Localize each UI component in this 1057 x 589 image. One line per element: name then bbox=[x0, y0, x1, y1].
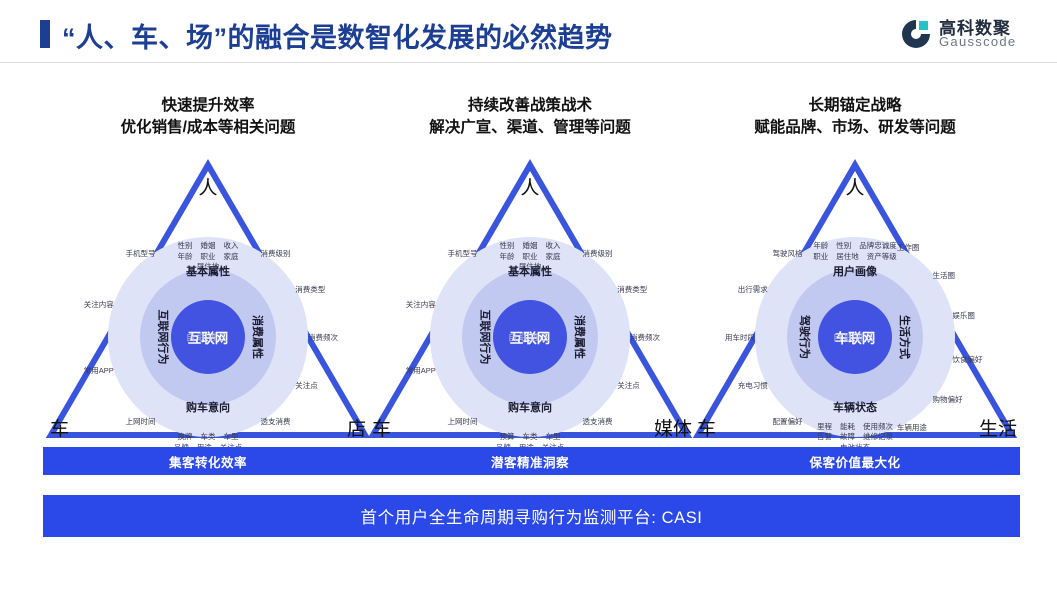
attr-tag: 饮食偏好 bbox=[952, 354, 982, 365]
concentric-diagram-3: 车联网 自联进三 用户画像 车辆状态 驾驶行为 生活方式 年龄性别品牌忠诚度职业… bbox=[755, 237, 955, 437]
pillar-column-2: 持续改善战策战术 解决广宣、渠道、管理等问题 人 车 媒体 互联网 自联进三 基… bbox=[365, 95, 695, 485]
column-1-heading: 快速提升效率 优化销售/成本等相关问题 bbox=[43, 95, 373, 139]
column-3-heading-line2: 赋能品牌、市场、研发等问题 bbox=[690, 116, 1020, 139]
outcome-bar-2: 潜客精准洞察 bbox=[365, 447, 695, 475]
attr-tag: 购物偏好 bbox=[933, 394, 963, 405]
page-title: “人、车、场”的融合是数智化发展的必然趋势 bbox=[62, 16, 613, 55]
vertex-right-3: 生活 bbox=[979, 414, 1017, 441]
header-divider bbox=[0, 62, 1057, 63]
outcome-bar-1: 集客转化效率 bbox=[43, 447, 373, 475]
attr-tag: 车辆用途 bbox=[897, 422, 927, 433]
attr-tag: 消费类型 bbox=[295, 284, 325, 295]
attr-tag: 透支消费 bbox=[260, 416, 290, 427]
vertex-top-1: 人 bbox=[198, 173, 217, 200]
attr-side-right-2: 消费级别消费类型消费频次关注点透支消费 bbox=[430, 237, 630, 437]
attr-tag: 消费级别 bbox=[260, 248, 290, 259]
attr-tag: 消费级别 bbox=[582, 248, 612, 259]
attr-tag: 关注点 bbox=[617, 380, 640, 391]
title-accent-bar bbox=[40, 20, 50, 48]
column-3-heading-line1: 长期锚定战略 bbox=[690, 95, 1020, 116]
column-2-heading-line1: 持续改善战策战术 bbox=[365, 95, 695, 116]
attr-side-right-3: 工作圈生活圈娱乐圈饮食偏好购物偏好车辆用途 bbox=[755, 237, 955, 437]
vertex-top-3: 人 bbox=[845, 173, 864, 200]
attr-tag: 工作圈 bbox=[897, 242, 920, 253]
attr-side-right-1: 消费级别消费类型消费频次关注点透支消费 bbox=[108, 237, 308, 437]
vertex-left-2: 车 bbox=[372, 414, 391, 441]
column-2-heading-line2: 解决广宣、渠道、管理等问题 bbox=[365, 116, 695, 139]
brand-logo: 高科数聚 Gausscode bbox=[899, 12, 1039, 56]
column-1-heading-line2: 优化销售/成本等相关问题 bbox=[43, 116, 373, 139]
attr-tag: 消费类型 bbox=[617, 284, 647, 295]
slide-header: “人、车、场”的融合是数智化发展的必然趋势 高科数聚 Gausscode bbox=[0, 0, 1057, 62]
column-2-triangle: 人 车 媒体 互联网 自联进三 基本属性 购车意向 互联网行为 消费属性 性别婚… bbox=[365, 153, 695, 443]
concentric-diagram-1: 互联网 自联进三 基本属性 购车意向 互联网行为 消费属性 性别婚姻收入年龄职业… bbox=[108, 237, 308, 437]
attr-tag: 生活圈 bbox=[933, 270, 956, 281]
pillar-column-1: 快速提升效率 优化销售/成本等相关问题 人 车 店 互联网 自联进三 基本属性 … bbox=[43, 95, 373, 485]
vertex-right-1: 店 bbox=[347, 414, 366, 441]
column-2-heading: 持续改善战策战术 解决广宣、渠道、管理等问题 bbox=[365, 95, 695, 139]
vertex-top-2: 人 bbox=[520, 173, 539, 200]
column-1-heading-line1: 快速提升效率 bbox=[43, 95, 373, 116]
outcome-bar-3: 保客价值最大化 bbox=[690, 447, 1020, 475]
attr-tag: 透支消费 bbox=[582, 416, 612, 427]
logo-text-en: Gausscode bbox=[939, 34, 1016, 49]
attr-tag: 娱乐圈 bbox=[952, 310, 975, 321]
column-3-triangle: 人 车 生活 车联网 自联进三 用户画像 车辆状态 驾驶行为 生活方式 年龄性别… bbox=[690, 153, 1020, 443]
attr-tag: 用车时段 bbox=[725, 332, 755, 343]
pillar-column-3: 长期锚定战略 赋能品牌、市场、研发等问题 人 车 生活 车联网 自联进三 用户画… bbox=[690, 95, 1020, 485]
column-3-heading: 长期锚定战略 赋能品牌、市场、研发等问题 bbox=[690, 95, 1020, 139]
vertex-left-1: 车 bbox=[50, 414, 69, 441]
concentric-diagram-2: 互联网 自联进三 基本属性 购车意向 互联网行为 消费属性 性别婚姻收入年龄职业… bbox=[430, 237, 630, 437]
gausscode-logo-icon bbox=[899, 17, 933, 51]
attr-tag: 消费频次 bbox=[308, 332, 338, 343]
platform-banner: 首个用户全生命周期寻购行为监测平台: CASI bbox=[43, 495, 1020, 537]
vertex-right-2: 媒体 bbox=[654, 414, 692, 441]
slide-canvas: “人、车、场”的融合是数智化发展的必然趋势 高科数聚 Gausscode 快速提… bbox=[0, 0, 1057, 589]
vertex-left-3: 车 bbox=[697, 414, 716, 441]
attr-tag: 消费频次 bbox=[630, 332, 660, 343]
column-1-triangle: 人 车 店 互联网 自联进三 基本属性 购车意向 互联网行为 消费属性 性别婚姻… bbox=[43, 153, 373, 443]
attr-tag: 关注点 bbox=[295, 380, 318, 391]
